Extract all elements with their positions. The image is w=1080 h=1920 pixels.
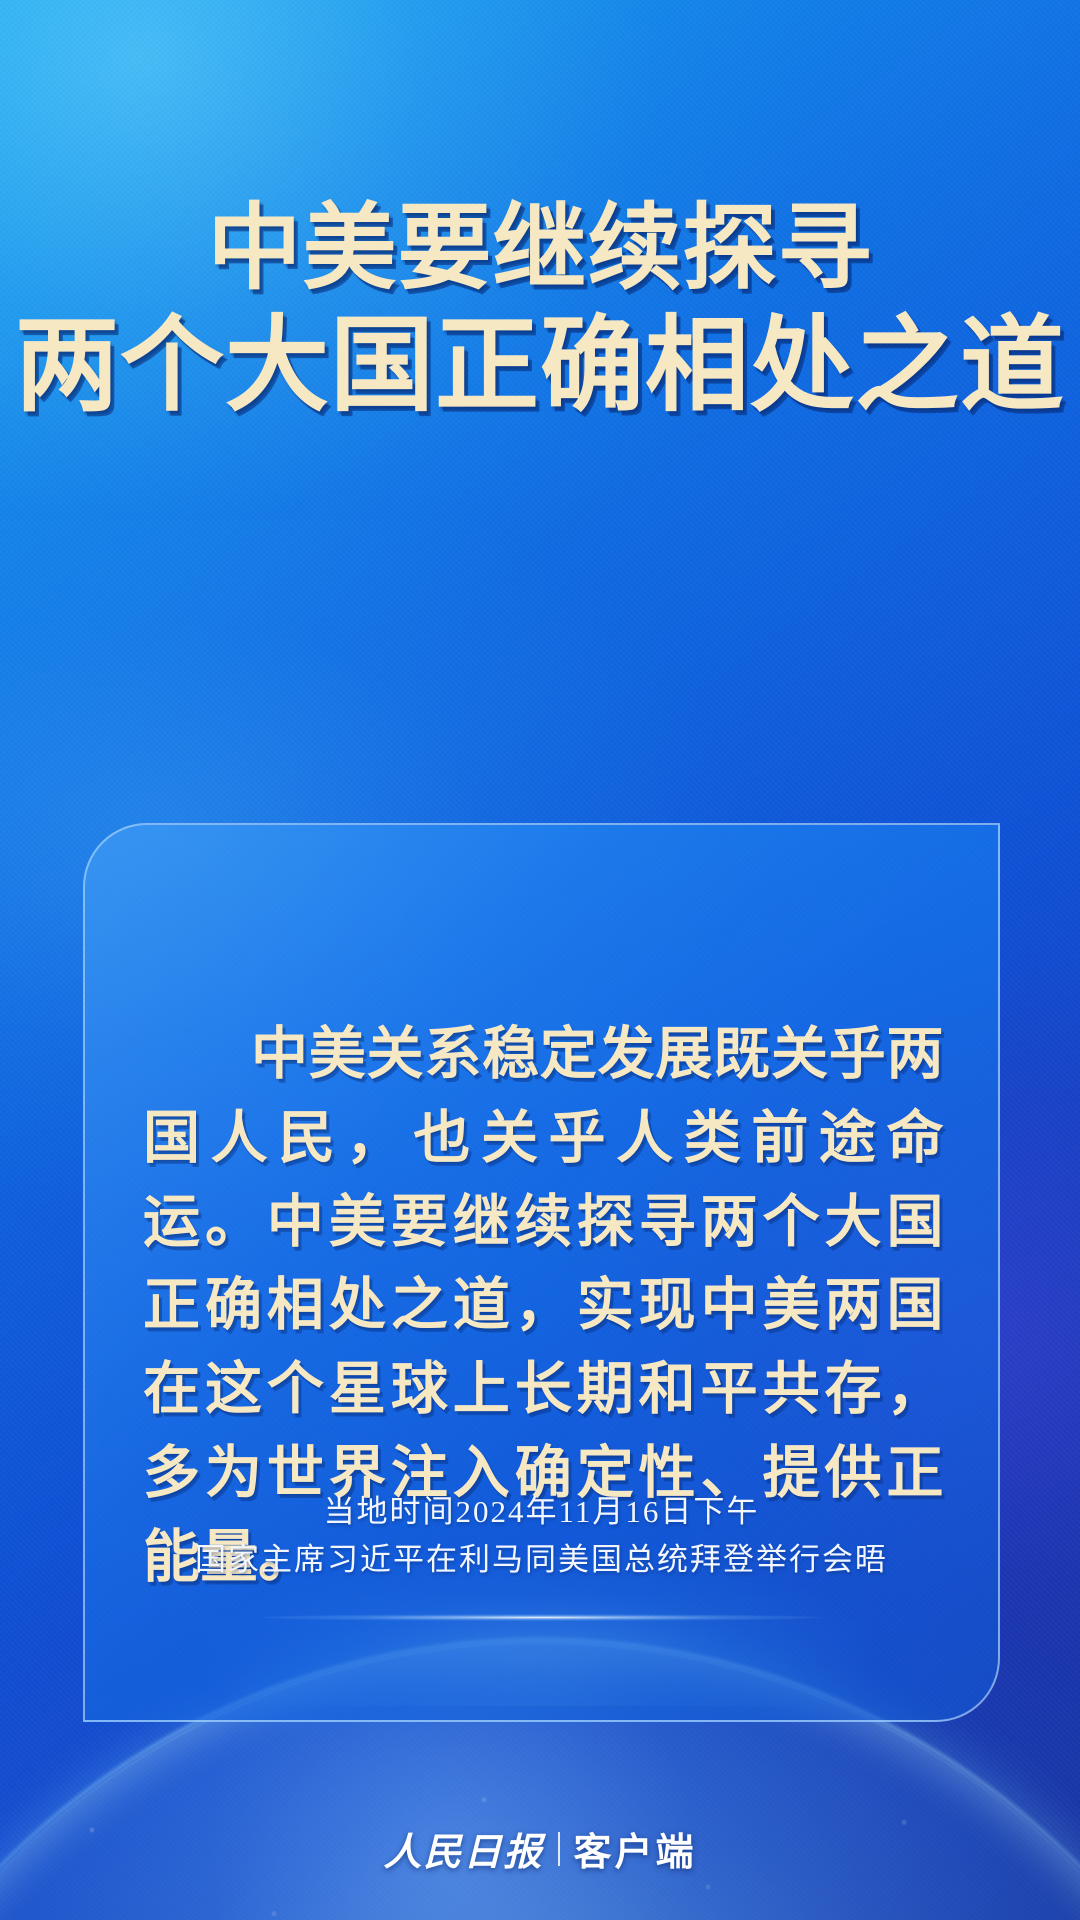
caption-block: 当地时间2024年11月16日下午 国家主席习近平在利马同美国总统拜登举行会晤	[85, 1488, 998, 1584]
brand-separator-icon	[558, 1832, 560, 1866]
page-title: 中美要继续探寻 两个大国正确相处之道	[0, 196, 1080, 424]
quote-card: 中美关系稳定发展既关乎两国人民，也关乎人类前途命运。中美要继续探寻两个大国正确相…	[83, 823, 1000, 1722]
title-line-2: 两个大国正确相处之道	[0, 307, 1080, 423]
poster-root: 中美要继续探寻 两个大国正确相处之道 中美关系稳定发展既关乎两国人民，也关乎人类…	[0, 0, 1080, 1920]
brand-product-name: 客户端	[574, 1821, 697, 1876]
brand-logo: 人民日报 客户端	[0, 1821, 1080, 1876]
title-line-1: 中美要继续探寻	[0, 196, 1080, 301]
caption-line-2: 国家主席习近平在利马同美国总统拜登举行会晤	[85, 1536, 998, 1584]
brand-wordmark: 人民日报	[383, 1821, 543, 1876]
caption-line-1: 当地时间2024年11月16日下午	[85, 1488, 998, 1536]
divider-glow	[262, 1614, 822, 1621]
